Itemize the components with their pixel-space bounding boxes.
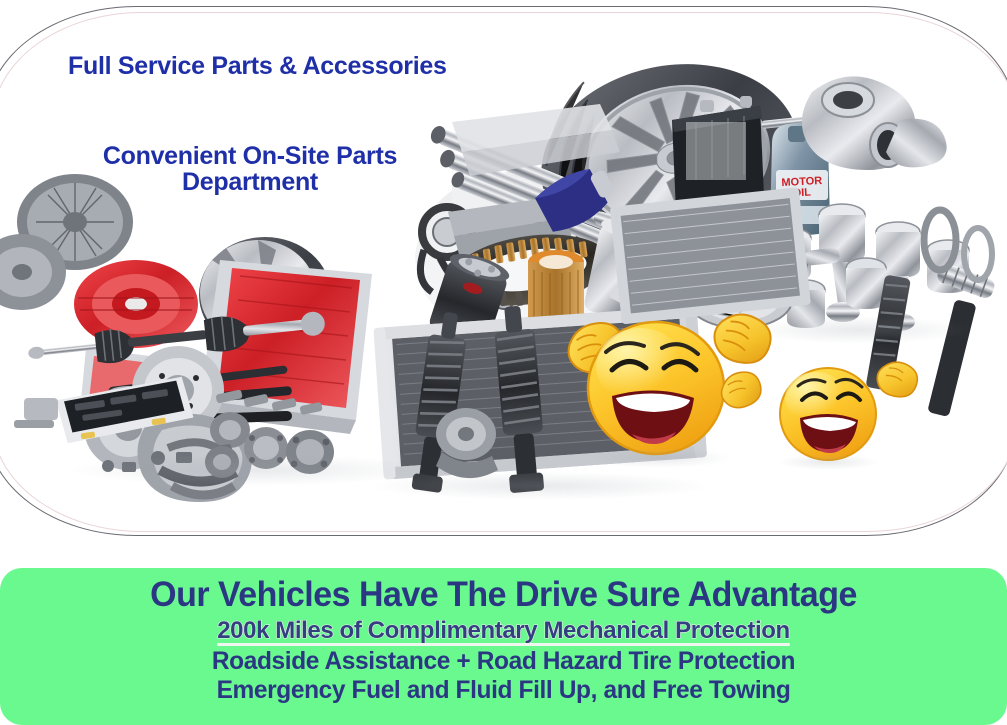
panel-headline-primary: Full Service Parts & Accessories — [68, 52, 447, 81]
parts-promo-panel: MOTOR OIL — [0, 0, 1007, 548]
promo-benefit-line-2: Emergency Fuel and Fluid Fill Up, and Fr… — [10, 677, 997, 704]
promo-benefit-line-1: Roadside Assistance + Road Hazard Tire P… — [10, 648, 997, 675]
promo-coverage-highlight: 200k Miles of Complimentary Mechanical P… — [0, 618, 1007, 643]
auto-parts-collage-image: MOTOR OIL — [0, 0, 1007, 548]
drive-sure-advantage-banner: Our Vehicles Have The Drive Sure Advanta… — [0, 568, 1007, 725]
panel-headline-secondary: Convenient On-Site Parts Department — [60, 143, 440, 196]
promo-headline: Our Vehicles Have The Drive Sure Advanta… — [15, 577, 992, 612]
